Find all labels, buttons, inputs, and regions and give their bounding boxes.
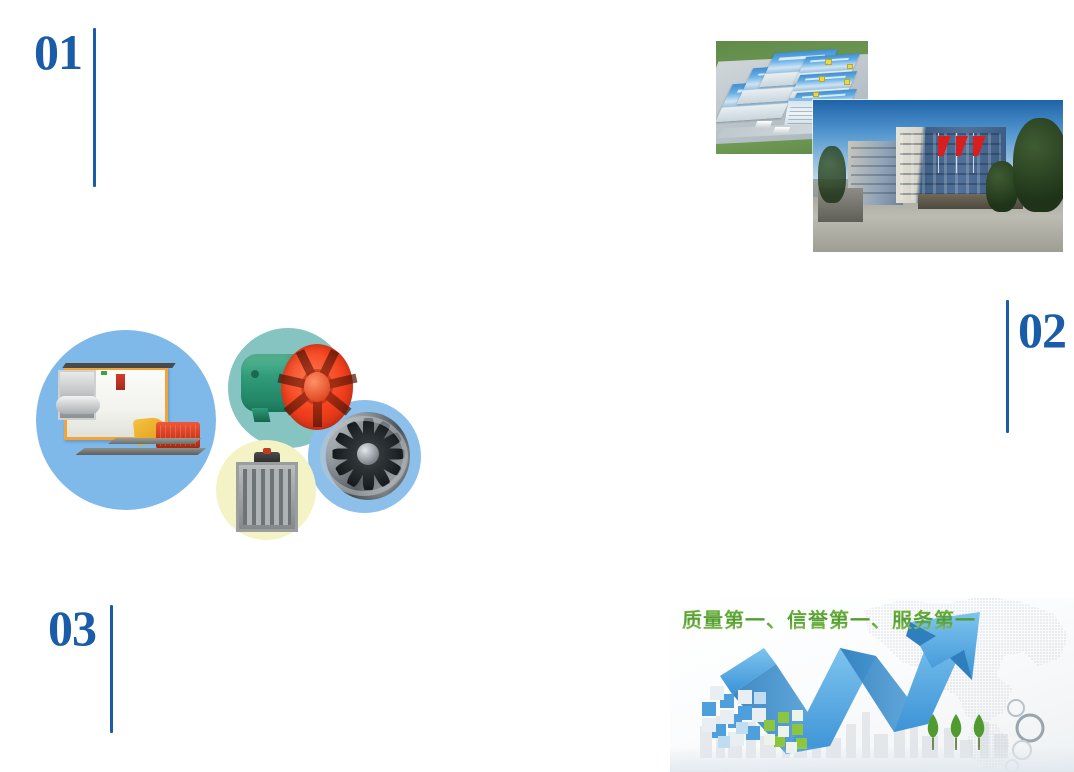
photo-tree [818, 146, 846, 204]
page-root: 01 [0, 0, 1074, 772]
render-roof-marker [844, 79, 850, 85]
section-rule-02 [1006, 300, 1009, 433]
section-marker-01: 01 [34, 22, 134, 172]
section-number-03: 03 [48, 603, 96, 653]
cabinet-indicator [101, 371, 107, 375]
render-roof-marker [847, 64, 853, 70]
render-roof-marker [825, 59, 831, 65]
section-rule-03 [110, 605, 113, 733]
slogan-text: 质量第一、信誉第一、服务第一 [682, 604, 976, 633]
section-number-02: 02 [1018, 305, 1066, 355]
red-flag-icon [973, 136, 986, 156]
render-roof-marker [819, 76, 825, 82]
office-building-photo [813, 100, 1063, 252]
photo-tree [1013, 118, 1063, 212]
render-truck [773, 127, 791, 134]
section-rule-01 [93, 28, 96, 187]
fan-wheel [56, 396, 100, 414]
base-rail [76, 448, 207, 455]
metal-blade-fan [318, 410, 413, 505]
render-truck [754, 121, 772, 128]
electric-motor [156, 422, 200, 449]
axial-fan-foot [252, 408, 271, 422]
damper-frame [236, 462, 298, 532]
slogan-banner: 质量第一、信誉第一、服务第一 [670, 598, 1074, 772]
section-number-01: 01 [34, 27, 82, 77]
control-panel [116, 374, 125, 390]
factory-photo-group [716, 41, 1066, 253]
red-flag-icon [938, 136, 951, 156]
render-roof-marker [813, 92, 819, 98]
product-circle-group [36, 328, 421, 543]
section-marker-02: 02 [1006, 296, 1074, 441]
banner-reflection [670, 746, 1074, 772]
impeller-hub [304, 372, 330, 402]
cabinet-fan-unit [56, 360, 208, 478]
metal-fan-rim [320, 416, 408, 496]
cabinet-roof [62, 363, 175, 368]
red-flag-icon [956, 136, 969, 156]
base-rail [108, 438, 202, 444]
air-volume-damper [236, 452, 298, 532]
section-marker-03: 03 [48, 598, 148, 743]
